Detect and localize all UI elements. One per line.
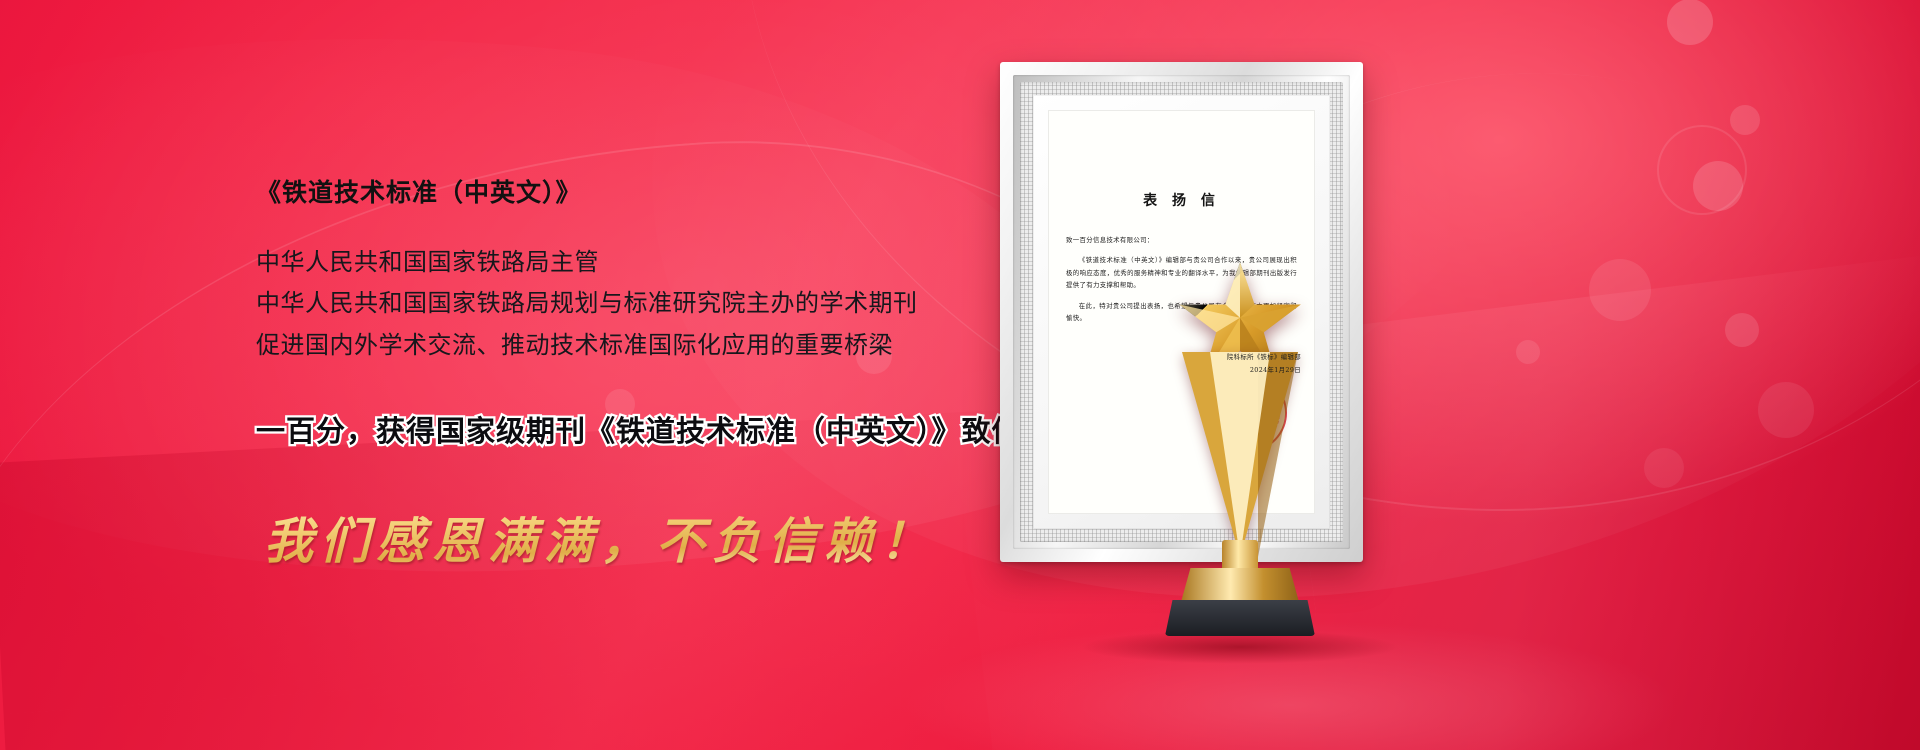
promotional-banner: 《铁道技术标准（中英文）》 中华人民共和国国家铁路局主管 中华人民共和国国家铁路… [0, 0, 1920, 750]
certificate-title: 表 扬 信 [1048, 190, 1315, 210]
certificate-signature: 院科标所《铁标》编辑部 2024年1月29日 [1048, 351, 1301, 377]
bokeh-circle [1758, 382, 1814, 438]
bokeh-circle [1516, 340, 1540, 364]
gold-trophy [1120, 300, 1360, 590]
trophy-base-gold [1181, 568, 1299, 602]
bokeh-circle [1667, 0, 1713, 45]
bokeh-circle [1693, 161, 1743, 211]
bokeh-circle [1730, 105, 1760, 135]
bokeh-circle [1725, 313, 1759, 347]
trophy-base-black [1165, 600, 1315, 636]
bokeh-circle [1644, 448, 1684, 488]
bokeh-circle [1657, 125, 1747, 215]
bokeh-circle [1589, 259, 1651, 321]
certificate-salutation: 致一百分信息技术有限公司： [1066, 234, 1297, 246]
signature-organization: 院科标所《铁标》编辑部 [1048, 351, 1301, 364]
trophy-cone-highlight [1210, 352, 1270, 557]
signature-date: 2024年1月29日 [1048, 364, 1301, 377]
trophy-neck [1222, 540, 1258, 572]
